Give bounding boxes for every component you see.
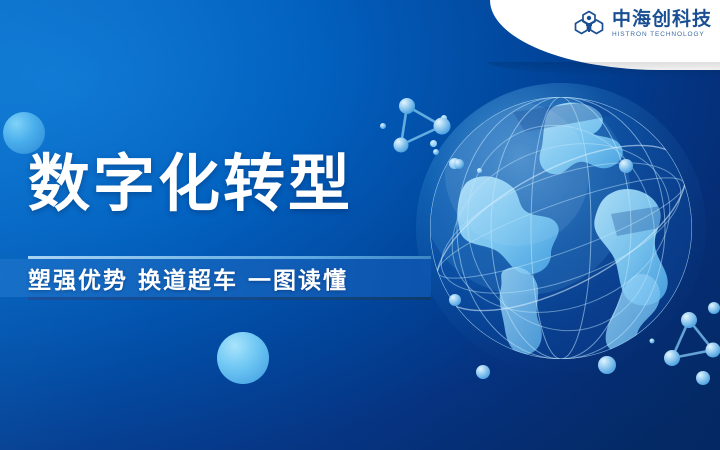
network-node-triangle-top [370, 78, 480, 183]
logo-company-name-en: HISTRON TECHNOLOGY [612, 32, 712, 39]
histron-hexagon-mark [573, 8, 605, 40]
subtitle-text: 塑强优势 换道超车 一图读懂 [28, 261, 348, 295]
company-logo[interactable]: 中海创科技 HISTRON TECHNOLOGY [573, 8, 712, 40]
digital-transformation-banner: 数字化转型 塑强优势 换道超车 一图读懂 中海创科技 HISTRON TECHN… [0, 0, 720, 450]
logo-company-name-cn: 中海创科技 [612, 10, 712, 29]
subtitle-block: 塑强优势 换道超车 一图读懂 [28, 259, 431, 297]
page-title: 数字化转型 [28, 151, 353, 218]
decorative-sphere-lower-left [217, 332, 269, 384]
subtitle-rule-bottom [28, 297, 431, 300]
network-node-triangle-bottom [648, 278, 720, 383]
headline-block: 数字化转型 [28, 151, 353, 218]
